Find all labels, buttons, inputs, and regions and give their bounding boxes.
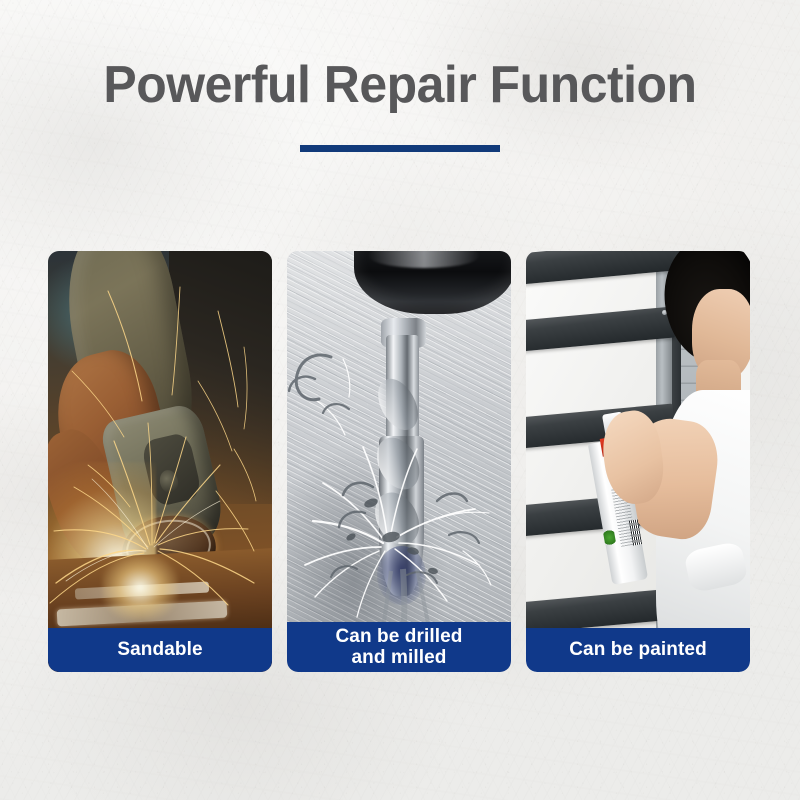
card-label-text: Sandable: [117, 639, 202, 660]
feature-card-drilled-milled[interactable]: Can be drilled and milled: [287, 251, 511, 672]
card-label-text-line1: Can be drilled: [335, 626, 462, 647]
card-label-drilled-milled: Can be drilled and milled: [287, 622, 511, 672]
angle-grinder-sparks-photo: [48, 251, 272, 672]
spark-streaks-icon: [48, 251, 272, 672]
feature-card-painted[interactable]: Can be painted: [526, 251, 750, 672]
spray-painting-louvers-photo: [526, 251, 750, 672]
drill-bit-metal-photo: [287, 251, 511, 672]
page-title: Powerful Repair Function: [16, 58, 784, 113]
card-label-text-line2: and milled: [335, 647, 462, 668]
metal-chips-icon: [287, 251, 511, 672]
feature-card-sandable[interactable]: Sandable: [48, 251, 272, 672]
card-label-sandable: Sandable: [48, 628, 272, 672]
card-label-text: Can be painted: [569, 639, 707, 660]
card-label-painted: Can be painted: [526, 628, 750, 672]
title-underline-rule: [300, 145, 500, 152]
feature-card-row: Sandable: [48, 251, 750, 672]
header: Powerful Repair Function: [0, 58, 800, 152]
